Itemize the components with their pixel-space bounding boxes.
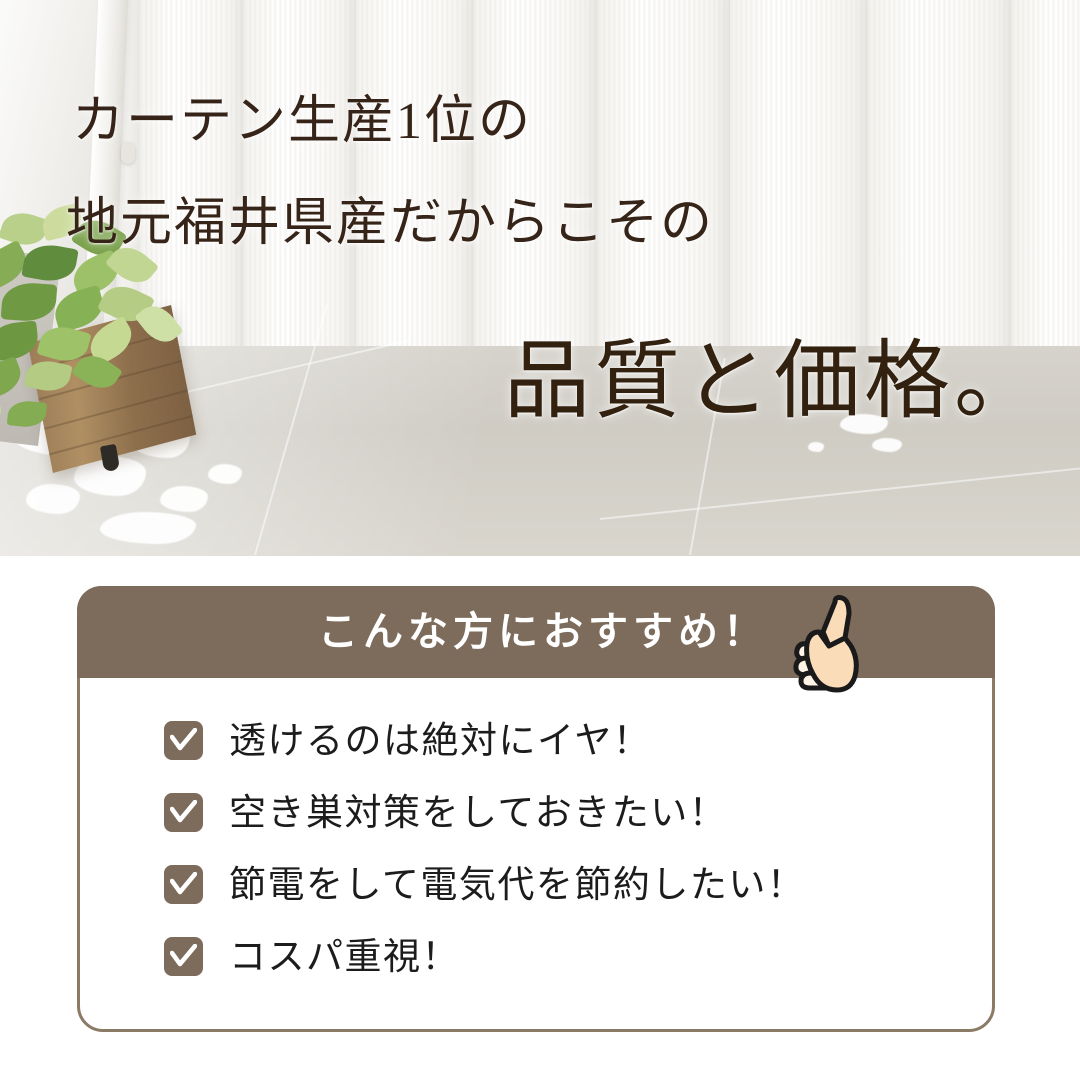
recommendation-card: こんな方におすすめ！ 透けるのは絶対にイヤ！ — [77, 586, 995, 1032]
hero-headline-line-2: 地元福井県産だからこその — [66, 180, 714, 255]
ivy-leaf — [7, 399, 48, 429]
checklist-item[interactable]: 透けるのは絶対にイヤ！ — [164, 704, 992, 776]
card-header-title: こんな方におすすめ！ — [304, 612, 768, 652]
checklist-item-label: 透けるのは絶対にイヤ！ — [229, 722, 651, 759]
checklist-item-label: 空き巣対策をしておきたい！ — [229, 794, 727, 831]
checkbox-checked-icon[interactable] — [164, 865, 203, 904]
checklist-item[interactable]: 空き巣対策をしておきたい！ — [164, 776, 992, 848]
ivy-leaf — [1, 281, 58, 323]
hero-headline-emphasis: 品質と価格。 — [504, 310, 1044, 435]
checklist-item-label: 節電をして電気代を節約したい！ — [229, 866, 805, 903]
checklist-item[interactable]: 節電をして電気代を節約したい！ — [164, 848, 992, 920]
hero-headline-line-1: カーテン生産1位の — [72, 78, 532, 153]
ivy-leaf — [0, 356, 26, 402]
ivy-plant — [0, 205, 280, 555]
tile-seam — [600, 464, 1080, 520]
hero-photo: カーテン生産1位の 地元福井県産だからこその 品質と価格。 — [0, 0, 1080, 556]
sunlight-dapple — [872, 438, 902, 452]
checklist-item[interactable]: コスパ重視！ — [164, 920, 992, 992]
point-up-finger-icon — [783, 588, 879, 700]
checklist: 透けるのは絶対にイヤ！ 空き巣対策をしておきたい！ 節電をして電気代を節約したい… — [80, 678, 992, 992]
sunlight-dapple — [808, 442, 824, 452]
checkbox-checked-icon[interactable] — [164, 937, 203, 976]
checkbox-checked-icon[interactable] — [164, 721, 203, 760]
ad-page: カーテン生産1位の 地元福井県産だからこその 品質と価格。 こんな方におすすめ！ — [0, 0, 1080, 1080]
checklist-item-label: コスパ重視！ — [229, 938, 460, 975]
checkbox-checked-icon[interactable] — [164, 793, 203, 832]
card-header: こんな方におすすめ！ — [77, 586, 995, 678]
